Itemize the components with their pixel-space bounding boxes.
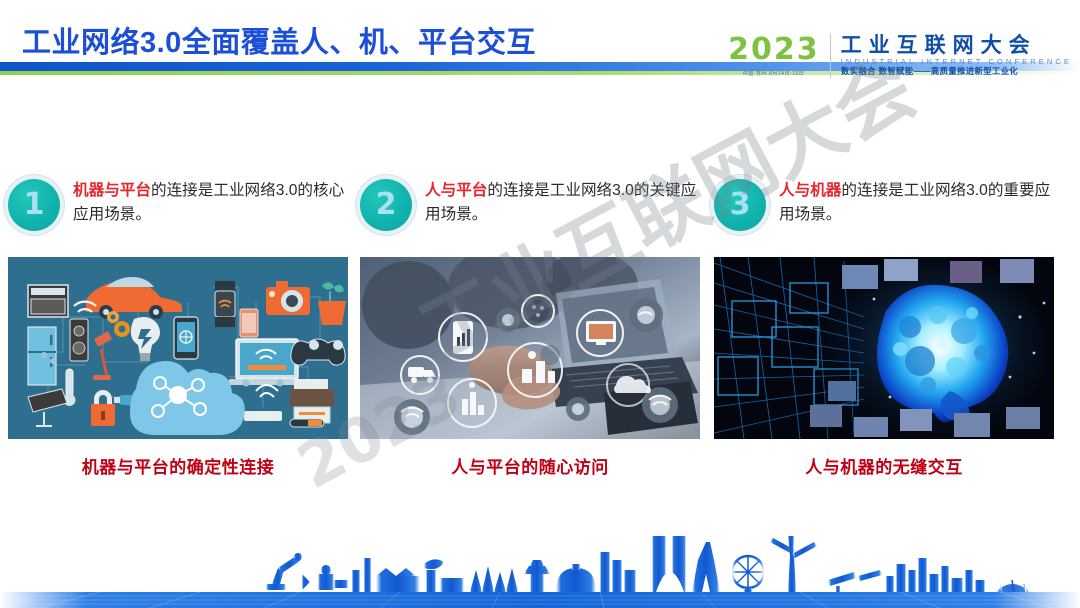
column-3-image [714,257,1054,439]
content-column-3: 3 人与机器的连接是工业网络3.0的重要应用场景。 [714,176,1064,478]
content-column-2: 2 人与平台的连接是工业网络3.0的关键应用场景。 [360,176,710,478]
step-badge-3: 3 [714,179,766,231]
column-3-highlight: 人与机器 [779,182,841,199]
column-3-heading: 3 人与机器的连接是工业网络3.0的重要应用场景。 [714,176,1064,252]
column-2-image [360,257,700,439]
column-1-highlight: 机器与平台 [73,182,151,199]
column-2-caption: 人与平台的随心访问 [360,453,700,478]
slide-canvas: 工业网络3.0全面覆盖人、机、平台交互 2023 中国·苏州 8月14日-16日… [0,0,1080,608]
column-2-heading: 2 人与平台的连接是工业网络3.0的关键应用场景。 [360,176,710,252]
logo-name-cn: 工业互联网大会 [841,35,1072,57]
content-column-1: 1 机器与平台的连接是工业网络3.0的核心应用场景。 [8,176,358,478]
logo-year-block: 2023 中国·苏州 8月14日-16日 [728,35,830,77]
smartphone-icon [174,317,198,359]
logo-year: 2023 [728,35,820,65]
slide-header: 工业网络3.0全面覆盖人、机、平台交互 2023 中国·苏州 8月14日-16日… [0,0,1080,98]
iot-devices-cloud-illustration [8,257,348,439]
logo-slogan: 数实融合 数智赋能——高质量推进新型工业化 [841,66,1068,77]
page-title: 工业网络3.0全面覆盖人、机、平台交互 [22,19,536,61]
logo-divider [830,34,831,78]
slide-footer [0,536,1080,608]
logo-name-en: INDUSTRIAL INTERNET CONFERENCE [841,57,1072,66]
conference-logo: 2023 中国·苏州 8月14日-16日 工业互联网大会 INDUSTRIAL … [728,28,1072,84]
tablet-icon [240,309,258,337]
hands-laptop-digital-icons-photo [360,257,700,439]
column-3-heading-text: 人与机器的连接是工业网络3.0的重要应用场景。 [779,176,1064,226]
logo-date-line: 中国·苏州 8月14日-16日 [743,69,805,77]
column-3-caption: 人与机器的无缝交互 [714,453,1054,478]
digital-brain-network-photo [714,257,1054,439]
logo-name-block: 工业互联网大会 INDUSTRIAL INTERNET CONFERENCE 数… [841,35,1072,78]
smartwatch-icon [215,281,235,327]
printer-icon [290,379,334,423]
column-1-image [8,257,348,439]
industrial-city-skyline-silhouette [0,536,1080,608]
step-badge-1: 1 [8,179,60,231]
column-1-heading-text: 机器与平台的连接是工业网络3.0的核心应用场景。 [73,176,358,226]
column-2-heading-text: 人与平台的连接是工业网络3.0的关键应用场景。 [425,176,710,226]
step-badge-2: 2 [360,179,412,231]
column-1-heading: 1 机器与平台的连接是工业网络3.0的核心应用场景。 [8,176,358,252]
speaker-icon [70,319,88,361]
oven-icon [28,285,68,317]
column-1-caption: 机器与平台的确定性连接 [8,453,348,478]
stylus-icon [290,419,324,427]
column-2-highlight: 人与平台 [425,182,487,199]
